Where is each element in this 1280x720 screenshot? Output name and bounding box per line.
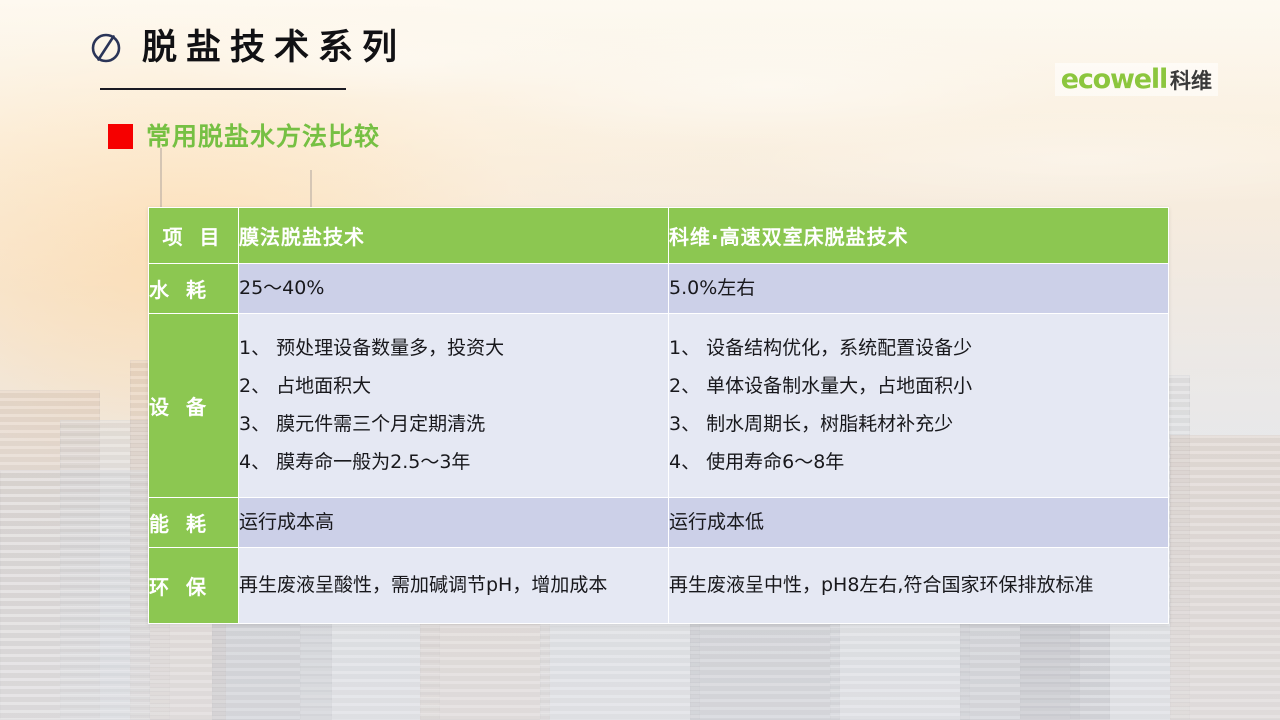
list-item: 4、 膜寿命一般为2.5～3年 — [239, 443, 668, 481]
cell-water-ecowell: 5.0%左右 — [669, 264, 1169, 314]
slide-subtitle: 常用脱盐水方法比较 — [146, 124, 380, 149]
slide-title-row: 脱盐技术系列 — [88, 30, 406, 66]
list-item: 3、 制水周期长，树脂耗材补充少 — [669, 406, 1168, 444]
row-label-energy: 能 耗 — [149, 498, 239, 548]
table-header-row: 项 目 膜法脱盐技术 科维·高速双室床脱盐技术 — [149, 208, 1169, 264]
list-item: 1、 设备结构优化，系统配置设备少 — [669, 330, 1168, 368]
list-item: 1、 预处理设备数量多，投资大 — [239, 330, 668, 368]
row-label-environment: 环 保 — [149, 548, 239, 624]
slide-canvas: 脱盐技术系列 常用脱盐水方法比较 ecowell 科维 项 目 膜法脱盐技术 科… — [0, 0, 1280, 720]
cell-energy-ecowell: 运行成本低 — [669, 498, 1169, 548]
circle-slash-icon — [88, 30, 124, 66]
list-item: 2、 单体设备制水量大，占地面积小 — [669, 368, 1168, 406]
cell-energy-membrane: 运行成本高 — [239, 498, 669, 548]
comparison-table: 项 目 膜法脱盐技术 科维·高速双室床脱盐技术 水 耗 25～40% 5.0%左… — [148, 207, 1169, 624]
list-item: 4、 使用寿命6～8年 — [669, 443, 1168, 481]
cell-water-membrane: 25～40% — [239, 264, 669, 314]
cell-environment-membrane: 再生废液呈酸性，需加碱调节pH，增加成本 — [239, 548, 669, 624]
column-header-item: 项 目 — [149, 208, 239, 264]
cell-equipment-membrane: 1、 预处理设备数量多，投资大 2、 占地面积大 3、 膜元件需三个月定期清洗 … — [239, 314, 669, 498]
list-item: 3、 膜元件需三个月定期清洗 — [239, 406, 668, 444]
ecowell-logo: ecowell 科维 — [1055, 63, 1218, 96]
logo-wordmark-cn: 科维 — [1170, 71, 1212, 92]
cell-environment-ecowell: 再生废液呈中性，pH8左右,符合国家环保排放标准 — [669, 548, 1169, 624]
cell-equipment-ecowell: 1、 设备结构优化，系统配置设备少 2、 单体设备制水量大，占地面积小 3、 制… — [669, 314, 1169, 498]
logo-wordmark-en: ecowell — [1061, 66, 1167, 93]
row-label-water: 水 耗 — [149, 264, 239, 314]
red-square-bullet-icon — [108, 124, 133, 149]
slide-subtitle-row: 常用脱盐水方法比较 — [108, 124, 380, 149]
list-item: 2、 占地面积大 — [239, 368, 668, 406]
column-header-ecowell: 科维·高速双室床脱盐技术 — [669, 208, 1169, 264]
equipment-ecowell-list: 1、 设备结构优化，系统配置设备少 2、 单体设备制水量大，占地面积小 3、 制… — [669, 330, 1168, 481]
row-label-equipment: 设 备 — [149, 314, 239, 498]
equipment-membrane-list: 1、 预处理设备数量多，投资大 2、 占地面积大 3、 膜元件需三个月定期清洗 … — [239, 330, 668, 481]
page-title: 脱盐技术系列 — [142, 31, 406, 66]
table-row-equipment: 设 备 1、 预处理设备数量多，投资大 2、 占地面积大 3、 膜元件需三个月定… — [149, 314, 1169, 498]
table-row-water-consumption: 水 耗 25～40% 5.0%左右 — [149, 264, 1169, 314]
table-row-environment: 环 保 再生废液呈酸性，需加碱调节pH，增加成本 再生废液呈中性，pH8左右,符… — [149, 548, 1169, 624]
column-header-membrane: 膜法脱盐技术 — [239, 208, 669, 264]
table-row-energy: 能 耗 运行成本高 运行成本低 — [149, 498, 1169, 548]
title-underline — [100, 88, 346, 90]
